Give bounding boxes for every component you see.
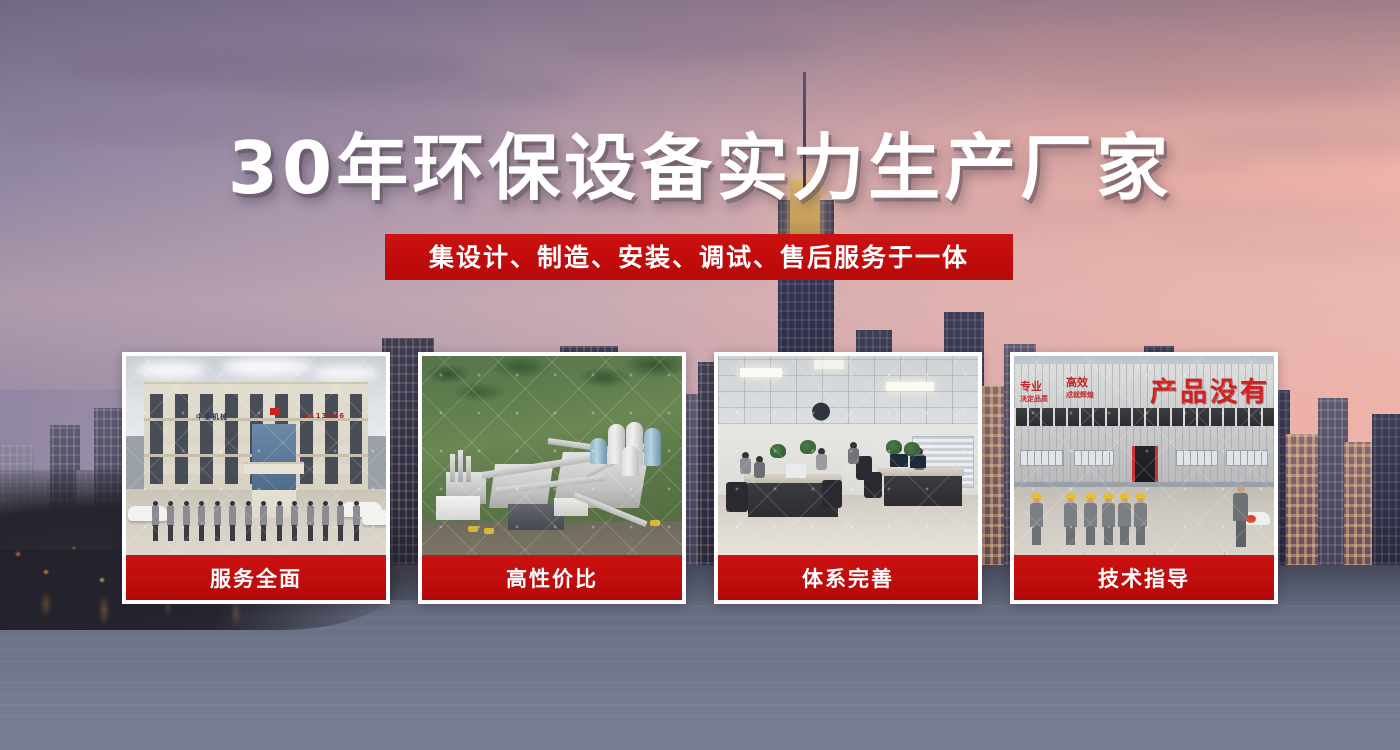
subtitle-bar: 集设计、制造、安装、调试、售后服务于一体 xyxy=(385,234,1013,280)
subtitle-text: 集设计、制造、安装、调试、售后服务于一体 xyxy=(429,245,969,270)
building-phone-text: 4113456 xyxy=(304,412,345,420)
cloud xyxy=(1050,62,1390,100)
cloud xyxy=(250,72,580,106)
page-title: 30年环保设备实力生产厂家 xyxy=(0,132,1400,204)
card-caption: 高性价比 xyxy=(422,555,682,600)
card-photo-factory-workers: 产品没有 专业 决定品质 高效 成就辉煌 xyxy=(1014,356,1274,555)
cloud xyxy=(560,30,820,60)
feature-card[interactable]: 体系完善 xyxy=(714,352,982,604)
card-caption: 技术指导 xyxy=(1014,555,1274,600)
factory-slogan-right: 高效 xyxy=(1066,374,1094,390)
card-caption: 服务全面 xyxy=(126,555,386,600)
card-photo-office-building: 中基机械 4113456 xyxy=(126,356,386,555)
feature-card[interactable]: 中基机械 4113456 xyxy=(122,352,390,604)
cloud xyxy=(930,30,1230,64)
factory-slogan-left: 专业 xyxy=(1020,378,1048,394)
feature-card-list: 中基机械 4113456 xyxy=(122,352,1278,604)
feature-card[interactable]: 高性价比 xyxy=(418,352,686,604)
factory-banner-text: 产品没有 xyxy=(1150,370,1270,409)
factory-slogan-left-sub: 决定品质 xyxy=(1020,394,1048,404)
staff-row xyxy=(152,501,360,541)
card-caption: 体系完善 xyxy=(718,555,978,600)
feature-card[interactable]: 产品没有 专业 决定品质 高效 成就辉煌 xyxy=(1010,352,1278,604)
card-photo-industrial-plant xyxy=(422,356,682,555)
card-photo-office-interior xyxy=(718,356,978,555)
factory-slogan-right-sub: 成就辉煌 xyxy=(1066,390,1094,400)
banner-stage: 30年环保设备实力生产厂家 集设计、制造、安装、调试、售后服务于一体 xyxy=(0,0,1400,750)
building-sign-text: 中基机械 xyxy=(196,412,228,422)
supervisor-figure xyxy=(1233,485,1248,547)
